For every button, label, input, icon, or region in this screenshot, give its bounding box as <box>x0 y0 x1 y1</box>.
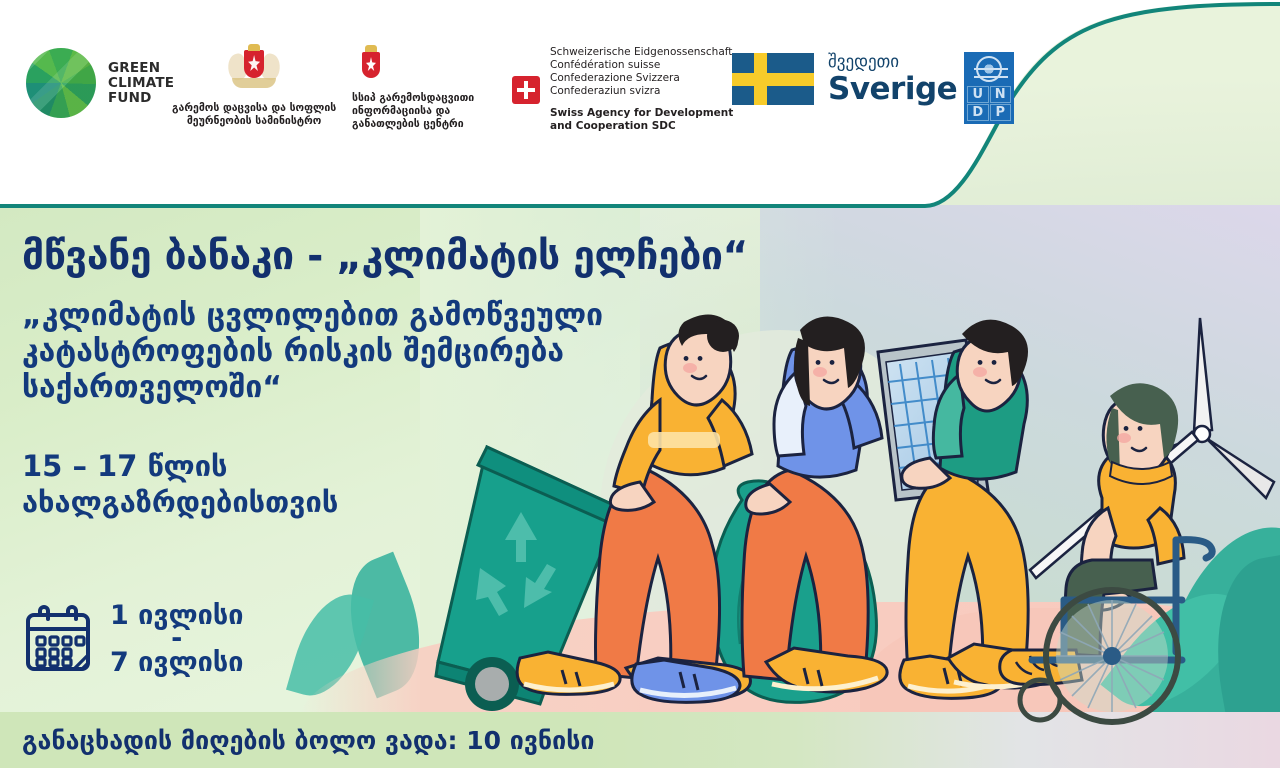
swiss-flag-icon <box>512 76 540 104</box>
globe-icon <box>26 48 96 118</box>
georgia-small-crest-icon <box>354 44 388 88</box>
poster-canvas: GREEN CLIMATE FUND გარემოს დაცვისა და სო… <box>0 0 1280 768</box>
gcf-line-1: GREEN <box>108 61 174 76</box>
application-deadline: განაცხადის მიღების ბოლო ვადა: 10 ივნისი <box>22 726 595 756</box>
logo-green-climate-fund: GREEN CLIMATE FUND <box>26 48 174 118</box>
gcf-line-3: FUND <box>108 91 174 106</box>
undp-letter-p: P <box>990 104 1012 121</box>
sponsor-logo-row: GREEN CLIMATE FUND გარემოს დაცვისა და სო… <box>0 0 1280 205</box>
logo-swiss-sdc: Schweizerische Eidgenossenschaft Confédé… <box>512 46 733 133</box>
date-end: 7 ივლისი <box>110 647 243 678</box>
undp-letter-u: U <box>967 86 989 103</box>
undp-letter-n: N <box>990 86 1012 103</box>
sweden-label-en: Sverige <box>828 72 957 106</box>
sweden-label-ka: შვედეთი <box>828 52 957 72</box>
target-age-text: 15 – 17 წლის ახალგაზრდებისთვის <box>22 448 502 520</box>
logo-environmental-info-centre: სსიპ გარემოსდაცვითი ინფორმაციისა და განა… <box>352 44 474 131</box>
page-title: მწვანე ბანაკი - „კლიმატის ელჩები“ <box>22 234 952 280</box>
logo-undp: U N D P <box>964 52 1014 124</box>
date-block: 1 ივლისი - 7 ივლისი <box>22 600 243 678</box>
logo-sweden: შვედეთი Sverige <box>732 52 957 106</box>
gcf-line-2: CLIMATE <box>108 76 174 91</box>
undp-letter-d: D <box>967 104 989 121</box>
calendar-icon <box>22 603 94 675</box>
eiec-caption: სსიპ გარემოსდაცვითი ინფორმაციისა და განა… <box>352 92 474 131</box>
date-separator: - <box>110 631 243 647</box>
un-emblem-icon <box>964 52 1014 86</box>
swedish-flag-icon <box>732 53 814 105</box>
ministry-caption: გარემოს დაცვისა და სოფლის მეურნეობის სამ… <box>172 102 336 128</box>
gcf-label: GREEN CLIMATE FUND <box>108 61 174 106</box>
logo-ministry-of-environment: გარემოს დაცვისა და სოფლის მეურნეობის სამ… <box>172 44 336 128</box>
date-range: 1 ივლისი - 7 ივლისი <box>110 600 243 678</box>
swiss-confederation-names: Schweizerische Eidgenossenschaft Confédé… <box>550 46 733 98</box>
project-subtitle: „კლიმატის ცვლილებით გამოწვეული კატასტროფ… <box>22 298 702 406</box>
georgia-coat-of-arms-icon <box>224 44 284 96</box>
swiss-agency-name: Swiss Agency for Development and Coopera… <box>550 107 733 133</box>
